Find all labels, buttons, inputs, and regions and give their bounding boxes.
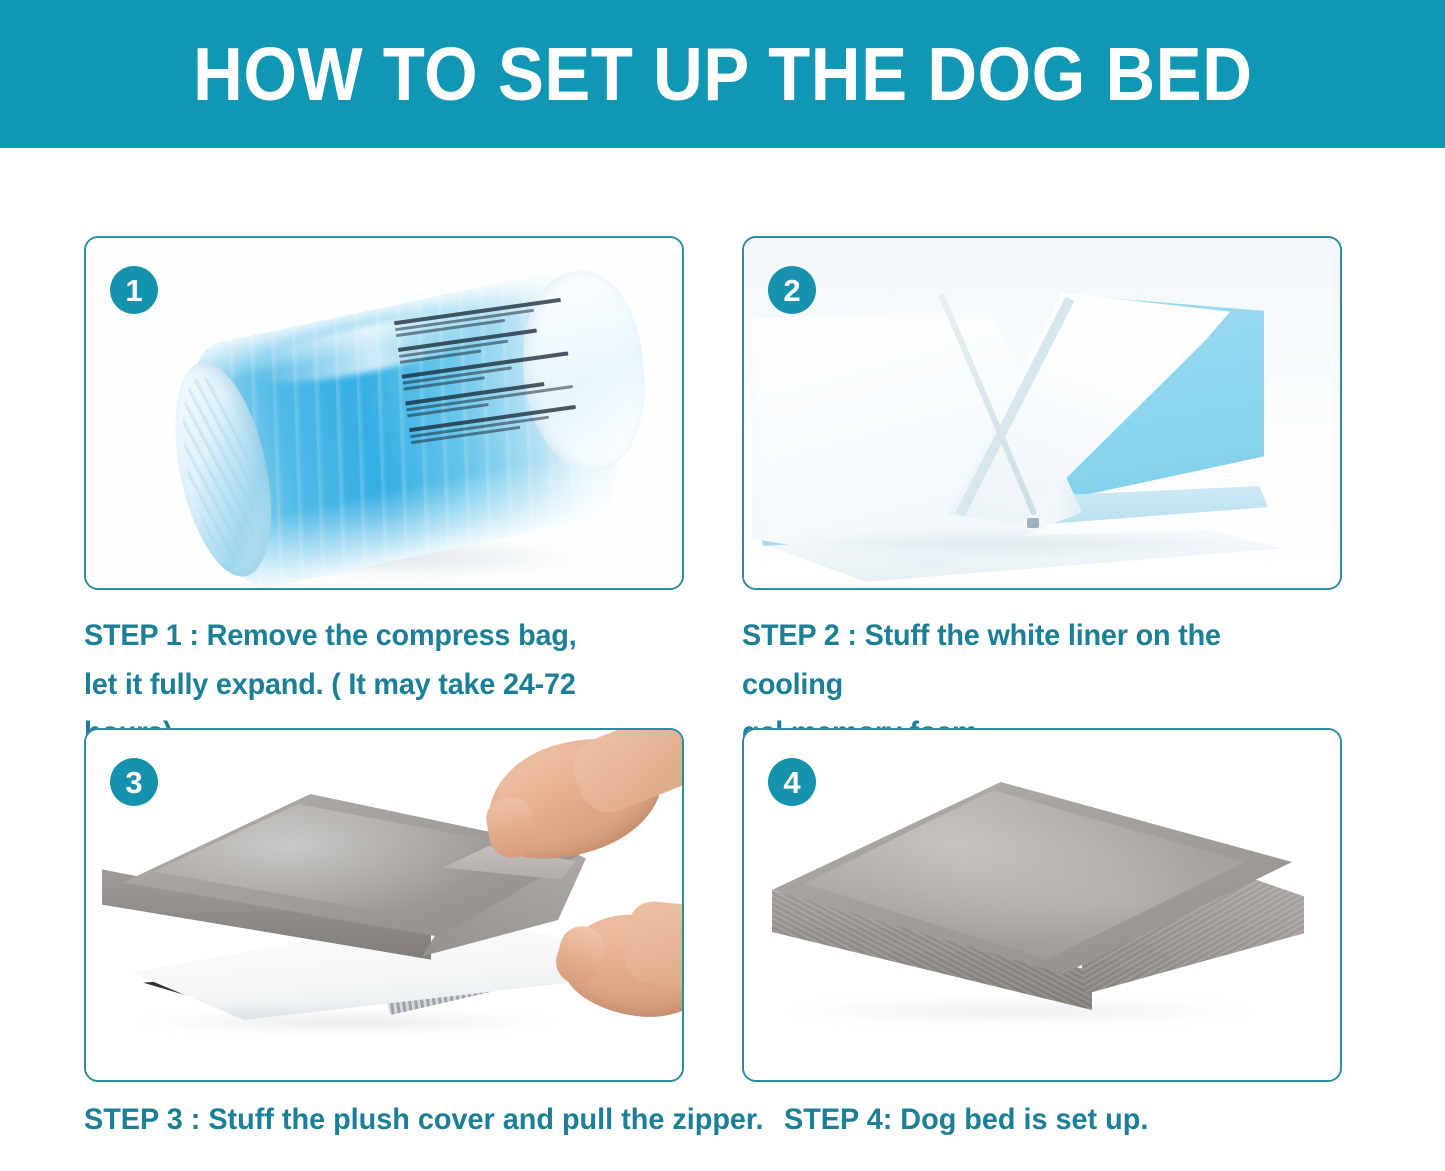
step-4-number-badge: 4 <box>768 758 816 806</box>
foam-shadow <box>774 530 1244 556</box>
gel-foam-assembly-icon <box>752 280 1312 550</box>
step-3-card: 3 <box>84 728 684 1082</box>
step-2-illustration <box>744 238 1340 588</box>
step-4-illustration <box>744 730 1340 1080</box>
bag-warning-label <box>394 295 609 516</box>
step-4-card: 4 <box>742 728 1342 1082</box>
page-header-banner: HOW TO SET UP THE DOG BED <box>0 0 1445 148</box>
step-3-number-badge: 3 <box>110 758 158 806</box>
step-2-card: 2 <box>742 236 1342 590</box>
steps-grid: 1 STEP 1 : Remove the compress bag, let … <box>0 148 1445 1171</box>
step-3-illustration <box>86 730 682 1080</box>
step-3-caption: STEP 3 : Stuff the plush cover and pull … <box>84 1103 756 1137</box>
step-2-number-badge: 2 <box>768 266 816 314</box>
step-3: 3 <box>84 728 684 1082</box>
bottom-captions: STEP 3 : Stuff the plush cover and pull … <box>84 1103 1384 1137</box>
step-4: 4 <box>742 728 1342 1082</box>
step-1-illustration <box>86 238 682 588</box>
step-1: 1 STEP 1 : Remove the compress bag, let … <box>84 236 684 758</box>
step-1-caption-line-1: STEP 1 : Remove the compress bag, <box>84 619 577 652</box>
step-2: 2 STEP 2 : Stuff the white liner on the … <box>742 236 1342 758</box>
step-4-caption: STEP 4: Dog bed is set up. <box>784 1103 1148 1137</box>
step-2-caption-line-1: STEP 2 : Stuff the white liner on the co… <box>742 619 1221 701</box>
liner-zipper-pull-icon <box>1027 518 1039 528</box>
finished-bed-shadow <box>784 998 1254 1024</box>
bed-shadow <box>136 1010 556 1034</box>
page-title: HOW TO SET UP THE DOG BED <box>193 37 1252 112</box>
step-1-number-badge: 1 <box>110 266 158 314</box>
step-1-card: 1 <box>84 236 684 590</box>
